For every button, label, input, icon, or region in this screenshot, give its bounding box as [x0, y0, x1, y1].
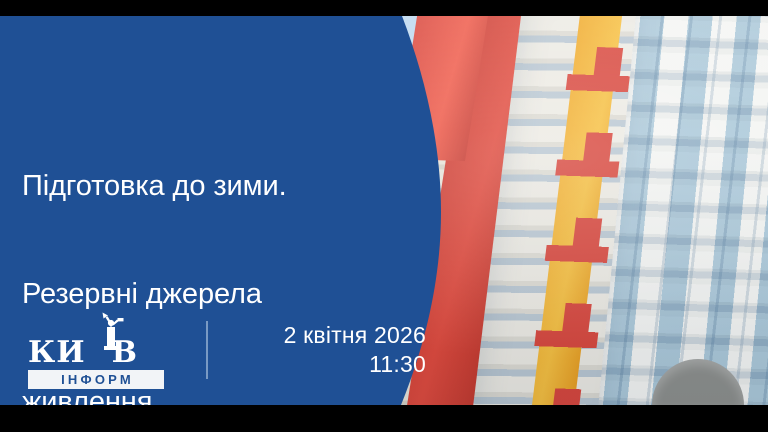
event-time: 11:30 — [240, 350, 426, 379]
logo-letter-k: К — [28, 338, 56, 368]
logo-letter-y: И — [56, 338, 85, 368]
vertical-divider — [206, 321, 208, 379]
footer-row: КИВ ІНФОРМ 2 квітня 2026 11:30 — [0, 300, 440, 400]
letterbox-bar-top — [0, 0, 768, 16]
event-date: 2 квітня 2026 — [240, 321, 426, 350]
kyiv-inform-logo: КИВ ІНФОРМ — [22, 308, 170, 392]
announcement-card: Підготовка до зими. Резервні джерела жив… — [0, 0, 768, 432]
logo-letter-v: В — [112, 338, 138, 368]
letterbox-bar-bottom — [0, 405, 768, 432]
event-datetime: 2 квітня 2026 11:30 — [240, 321, 426, 379]
logo-wordmark: КИВ — [28, 338, 164, 368]
logo-subtitle: ІНФОРМ — [28, 370, 164, 389]
headline-line-1: Підготовка до зими. — [22, 168, 442, 204]
